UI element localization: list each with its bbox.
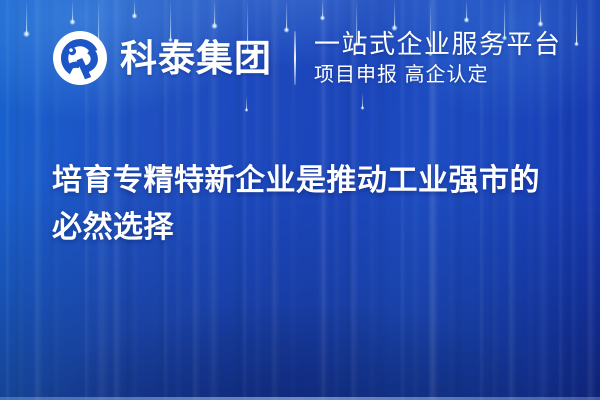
page-title: 培育专精特新企业是推动工业强市的必然选择 (52, 157, 552, 251)
tagline-block: 一站式企业服务平台 项目申报 高企认定 (314, 30, 562, 87)
brand-header: 科泰集团 一站式企业服务平台 项目申报 高企认定 (52, 30, 562, 87)
tagline-main: 一站式企业服务平台 (314, 30, 562, 59)
brand-name: 科泰集团 (120, 40, 272, 77)
promo-banner: 科泰集团 一站式企业服务平台 项目申报 高企认定 培育专精特新企业是推动工业强市… (0, 0, 600, 400)
tagline-sub: 项目申报 高企认定 (314, 64, 562, 86)
header-divider (294, 31, 296, 85)
ketai-circular-logo-icon (52, 30, 108, 86)
